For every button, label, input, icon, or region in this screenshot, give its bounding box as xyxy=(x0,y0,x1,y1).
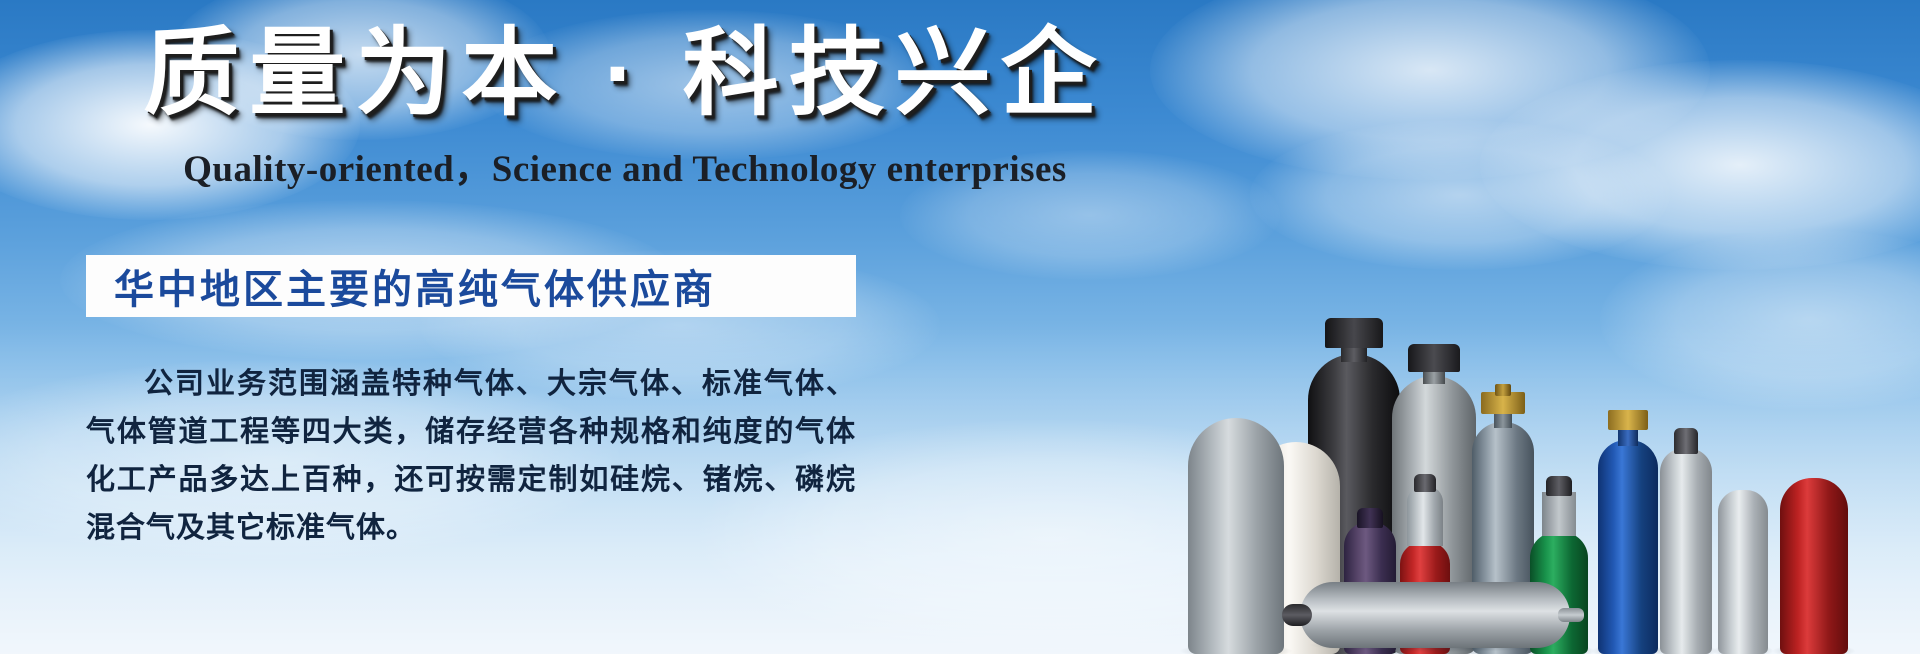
cylinder-blue-tall xyxy=(1598,402,1658,654)
cylinder-silver-b xyxy=(1718,476,1768,654)
cylinder-horizontal xyxy=(1300,576,1570,648)
cylinder-red-tall xyxy=(1780,468,1848,654)
banner-body-text: 公司业务范围涵盖特种气体、大宗气体、标准气体、气体管道工程等四大类，储存经营各种… xyxy=(86,360,856,552)
cylinder-grey-large xyxy=(1188,406,1284,654)
tagline-box: 华中地区主要的高纯气体供应商 xyxy=(86,255,856,317)
cylinder-silver-a xyxy=(1660,420,1712,654)
banner-subheadline: Quality-oriented，Science and Technology … xyxy=(0,138,1250,192)
tagline-text: 华中地区主要的高纯气体供应商 xyxy=(114,257,716,315)
promo-banner: 质量为本 · 科技兴企 Quality-oriented，Science and… xyxy=(0,0,1920,654)
product-photo-cylinders xyxy=(1240,234,1920,654)
banner-headline: 质量为本 · 科技兴企 xyxy=(0,22,1250,126)
